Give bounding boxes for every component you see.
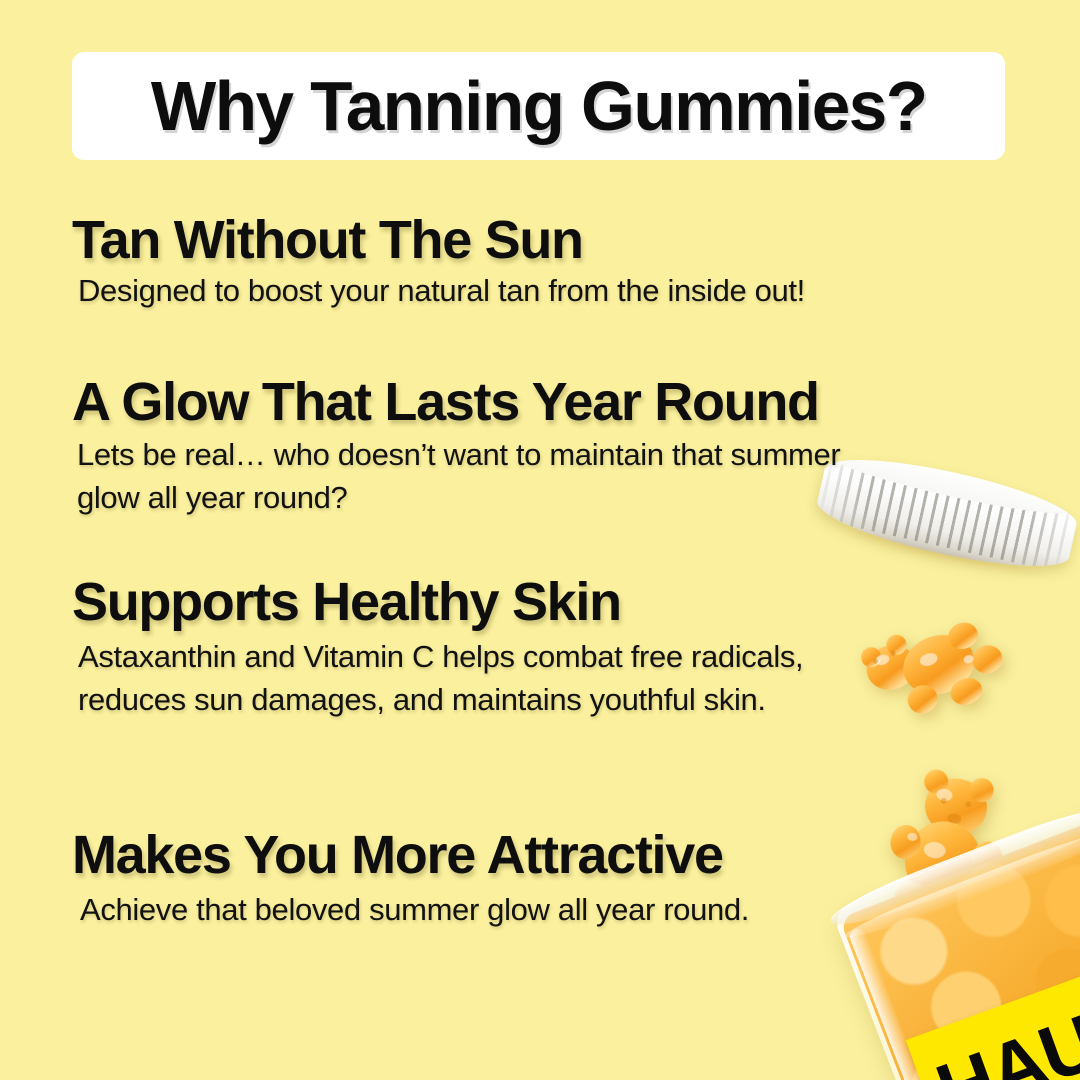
benefit-heading-4: Makes You More Attractive bbox=[72, 828, 892, 883]
benefit-heading-1: Tan Without The Sun bbox=[72, 213, 805, 268]
title-banner: Why Tanning Gummies? bbox=[72, 52, 1005, 160]
benefit-body-3: Astaxanthin and Vitamin C helps combat f… bbox=[78, 636, 812, 721]
bottle-cap bbox=[812, 445, 1080, 581]
poster-canvas: HAUTE BEAUTY STRENGTH Why Tanning Gummie… bbox=[0, 0, 1080, 1080]
benefit-body-2: Lets be real… who doesn’t want to mainta… bbox=[77, 434, 852, 519]
benefit-item-1: Tan Without The Sun Designed to boost yo… bbox=[72, 213, 805, 313]
benefit-body-4: Achieve that beloved summer glow all yea… bbox=[80, 889, 892, 931]
benefit-heading-3: Supports Healthy Skin bbox=[72, 575, 812, 630]
benefit-item-3: Supports Healthy Skin Astaxanthin and Vi… bbox=[72, 575, 812, 721]
benefit-heading-2: A Glow That Lasts Year Round bbox=[72, 375, 852, 430]
gummy-bear-lying-icon bbox=[840, 591, 1017, 737]
benefit-item-4: Makes You More Attractive Achieve that b… bbox=[72, 828, 892, 932]
bottle-cap-body bbox=[812, 445, 1080, 581]
page-title: Why Tanning Gummies? bbox=[151, 71, 927, 141]
benefit-item-2: A Glow That Lasts Year Round Lets be rea… bbox=[72, 375, 852, 519]
benefit-body-1: Designed to boost your natural tan from … bbox=[78, 270, 805, 312]
